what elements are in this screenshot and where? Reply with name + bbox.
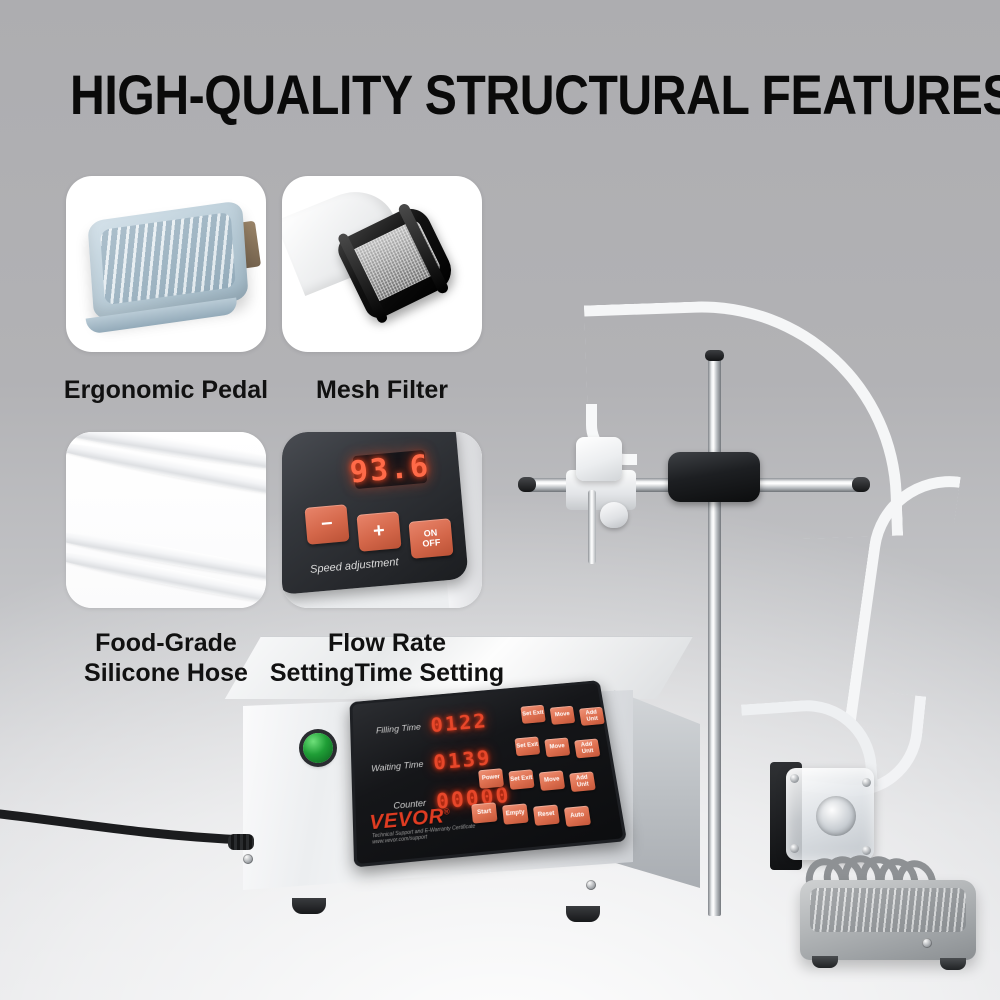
page-title: HIGH-QUALITY STRUCTURAL FEATURES <box>70 62 930 127</box>
readout-row: Waiting Time 0139 <box>357 746 493 781</box>
filling-time-value: 0122 <box>430 710 489 737</box>
positioning-clamp <box>668 452 760 502</box>
vevor-logo: VEVOR® <box>369 805 451 836</box>
empty-button[interactable]: Empty <box>502 803 529 824</box>
move-button[interactable]: Move <box>539 770 565 791</box>
silicone-tube-to-pump <box>795 684 927 803</box>
green-power-button[interactable] <box>303 733 333 763</box>
foot-pedal-foot <box>812 956 838 968</box>
silicone-tube-return <box>741 696 878 796</box>
machine-front-face <box>243 690 633 890</box>
add-unit-button[interactable]: Add Unit <box>569 771 596 792</box>
feature-caption-flow-rate-setting: Flow Rate SettingTime Setting <box>262 628 512 688</box>
cord-strain-relief <box>228 834 254 850</box>
speed-led-display: 93.6 <box>353 450 428 490</box>
feature-thumb-ergonomic-pedal <box>66 176 266 352</box>
minus-icon: − <box>321 519 334 530</box>
post-cap <box>705 350 724 361</box>
readout-row: Filling Time 0122 <box>356 710 489 744</box>
plus-icon: + <box>373 526 386 537</box>
pump-bracket <box>770 762 802 870</box>
plus-button[interactable]: + <box>356 511 401 551</box>
machine-screw-right <box>586 880 596 890</box>
pump-bolt <box>790 844 799 853</box>
product-feature-image: Filling Time 0122 Waiting Time 0139 Coun… <box>0 0 1000 1000</box>
feature-thumb-flow-rate-setting: 93.6 − + ON OFF Speed adjustment <box>282 432 482 608</box>
filling-time-label: Filling Time <box>356 722 421 737</box>
crossbar-end-cap-left <box>518 477 536 492</box>
on-off-button[interactable]: ON OFF <box>408 518 453 558</box>
crossbar-end-cap-right <box>852 477 870 492</box>
support-post <box>708 356 721 916</box>
move-button[interactable]: Move <box>544 737 570 757</box>
foot-pedal-ribs <box>810 888 966 932</box>
add-unit-button[interactable]: Add Unit <box>574 738 600 758</box>
power-cord <box>0 806 250 844</box>
pump-bolt <box>862 778 871 787</box>
counter-value: 00000 <box>435 783 511 814</box>
silicone-tube-left-drop <box>586 404 637 465</box>
machine-foot-left <box>292 898 326 914</box>
reset-button[interactable]: Reset <box>533 804 560 825</box>
machine-right-side <box>614 676 700 888</box>
foot-pedal[interactable] <box>800 880 976 960</box>
vevor-wordmark: VEVOR <box>369 805 445 834</box>
set-exit-button[interactable]: Set Exit <box>508 769 534 790</box>
set-exit-button[interactable]: Set Exit <box>515 736 541 756</box>
peristaltic-pump-head <box>786 768 874 860</box>
readout-row: Counter 00000 <box>358 783 511 821</box>
move-button[interactable]: Move <box>550 706 576 725</box>
set-exit-button[interactable]: Set Exit <box>520 705 545 724</box>
feature-thumb-silicone-hose <box>66 432 266 608</box>
on-off-label: ON OFF <box>421 528 441 549</box>
waiting-time-value: 0139 <box>433 746 493 774</box>
nozzle-carriage <box>566 470 636 510</box>
ergonomic-pedal-image <box>66 176 266 352</box>
foot-pedal-foot <box>940 958 966 970</box>
filling-nozzle <box>588 490 596 564</box>
vevor-tagline: Technical Support and E-Warranty Certifi… <box>372 823 476 845</box>
foot-pedal-screw <box>922 938 932 948</box>
silicone-tube-right-drop <box>844 466 961 736</box>
pump-bolt <box>790 774 799 783</box>
crossbar <box>524 478 864 492</box>
add-unit-button[interactable]: Add Unit <box>579 707 605 726</box>
feature-caption-ergonomic-pedal: Ergonomic Pedal <box>36 375 296 405</box>
pump-bolt <box>862 846 871 855</box>
minus-button[interactable]: − <box>304 504 349 544</box>
feature-caption-mesh-filter: Mesh Filter <box>272 375 492 405</box>
waiting-time-label: Waiting Time <box>357 759 423 775</box>
machine-foot-right <box>566 906 600 922</box>
machine-screw-left <box>243 854 253 864</box>
pump-rotor <box>816 796 856 836</box>
pedal-ribs <box>100 212 235 305</box>
feature-caption-silicone-hose: Food-Grade Silicone Hose <box>46 628 286 688</box>
power-cord-icon <box>0 806 250 846</box>
nozzle-holder <box>576 437 622 481</box>
trademark-symbol: ® <box>443 807 450 817</box>
speed-led-value: 93.6 <box>349 449 432 491</box>
auto-button[interactable]: Auto <box>564 806 591 827</box>
counter-label: Counter <box>359 798 427 814</box>
clamp-knob <box>600 502 628 528</box>
silicone-hose-image <box>66 432 266 608</box>
pedal-coiled-cord <box>806 856 926 892</box>
start-button[interactable]: Start <box>471 802 497 823</box>
machine-control-panel[interactable]: Filling Time 0122 Waiting Time 0139 Coun… <box>350 680 627 867</box>
feature-thumb-mesh-filter <box>282 176 482 352</box>
speed-adjustment-image: 93.6 − + ON OFF Speed adjustment <box>282 432 482 608</box>
silicone-tube-arch <box>584 295 903 547</box>
power-button[interactable]: Power <box>478 768 504 789</box>
mesh-filter-image <box>282 176 482 352</box>
